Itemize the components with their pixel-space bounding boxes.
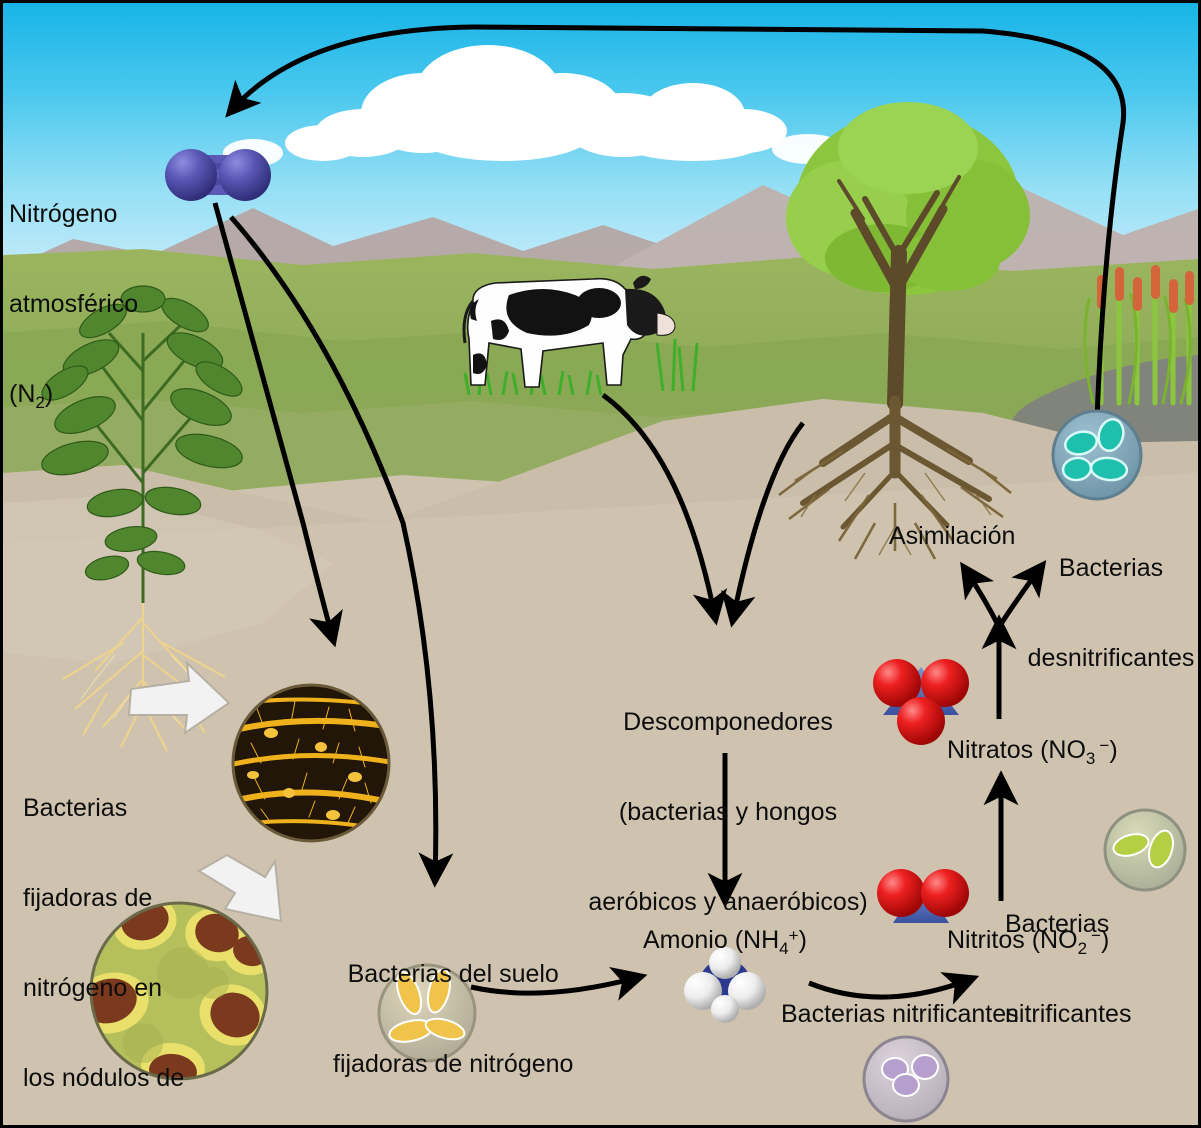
nitrifying-right-line2: nitrificantes	[1005, 999, 1131, 1029]
nitrifying-right-line1: Bacterias	[1005, 909, 1131, 939]
denitrifying-line1: Bacterias	[1021, 553, 1201, 583]
label-denitrifying-bacteria: Bacterias desnitrificantes	[1021, 493, 1201, 733]
nitrates-subscript: 3	[1086, 749, 1095, 768]
nitrogen-cycle-diagram: Nitrógeno atmosférico (N2) Bacterias fij…	[0, 0, 1201, 1128]
ammonium-base: Amonio (NH	[643, 926, 779, 954]
decomposers-line2: (bacterias y hongos	[573, 797, 883, 827]
label-soil-fixing-bacteria: Bacterias del suelo fijadoras de nitróge…	[333, 899, 573, 1128]
soil-fixing-line2: fijadoras de nitrógeno	[333, 1049, 573, 1079]
root-nodule-line3: nitrógeno en	[23, 973, 184, 1003]
nitrifying-bacteria-circle	[864, 1037, 948, 1121]
atmospheric-nitrogen-line2: atmosférico	[9, 289, 138, 319]
n2-close: )	[45, 380, 53, 408]
root-nodule-line2: fijadoras de	[23, 883, 184, 913]
decomposers-line1: Descomponedores	[573, 707, 883, 737]
atmospheric-nitrogen-line1: Nitrógeno	[9, 199, 138, 229]
nitrates-close: )	[1109, 736, 1117, 764]
label-nitrates: Nitratos (NO3−)	[947, 731, 1118, 774]
denitrifying-line2: desnitrificantes	[1021, 643, 1201, 673]
nitrates-superscript: −	[1099, 736, 1109, 755]
ammonium-subscript: 4	[779, 939, 788, 958]
label-nitrifying-bacteria-right: Bacterias nitrificantes	[1005, 849, 1131, 1089]
n2-subscript: 2	[35, 393, 44, 412]
ammonium-close: )	[799, 926, 807, 954]
decomposers-line3: aeróbicos y anaeróbicos)	[573, 887, 883, 917]
n2-base: (N	[9, 380, 35, 408]
root-nodule-line1: Bacterias	[23, 793, 184, 823]
label-nitrifying-bacteria-center: Bacterias nitrificantes	[781, 999, 1019, 1029]
nitrates-base: Nitratos (NO	[947, 736, 1086, 764]
denitrifying-bacteria-circle	[1053, 411, 1141, 499]
label-atmospheric-nitrogen: Nitrógeno atmosférico (N2)	[9, 139, 138, 478]
label-assimilation: Asimilación	[889, 521, 1015, 551]
label-root-nodule-bacteria: Bacterias fijadoras de nitrógeno en los …	[23, 733, 184, 1128]
ammonium-superscript: +	[789, 926, 799, 945]
soil-fixing-line1: Bacterias del suelo	[333, 959, 573, 989]
label-ammonium: Amonio (NH4+)	[643, 921, 807, 964]
root-nodule-line4: los nódulos de	[23, 1063, 184, 1093]
nitrogen-gas-molecule	[165, 149, 271, 201]
atmospheric-nitrogen-formula: (N2)	[9, 379, 138, 418]
